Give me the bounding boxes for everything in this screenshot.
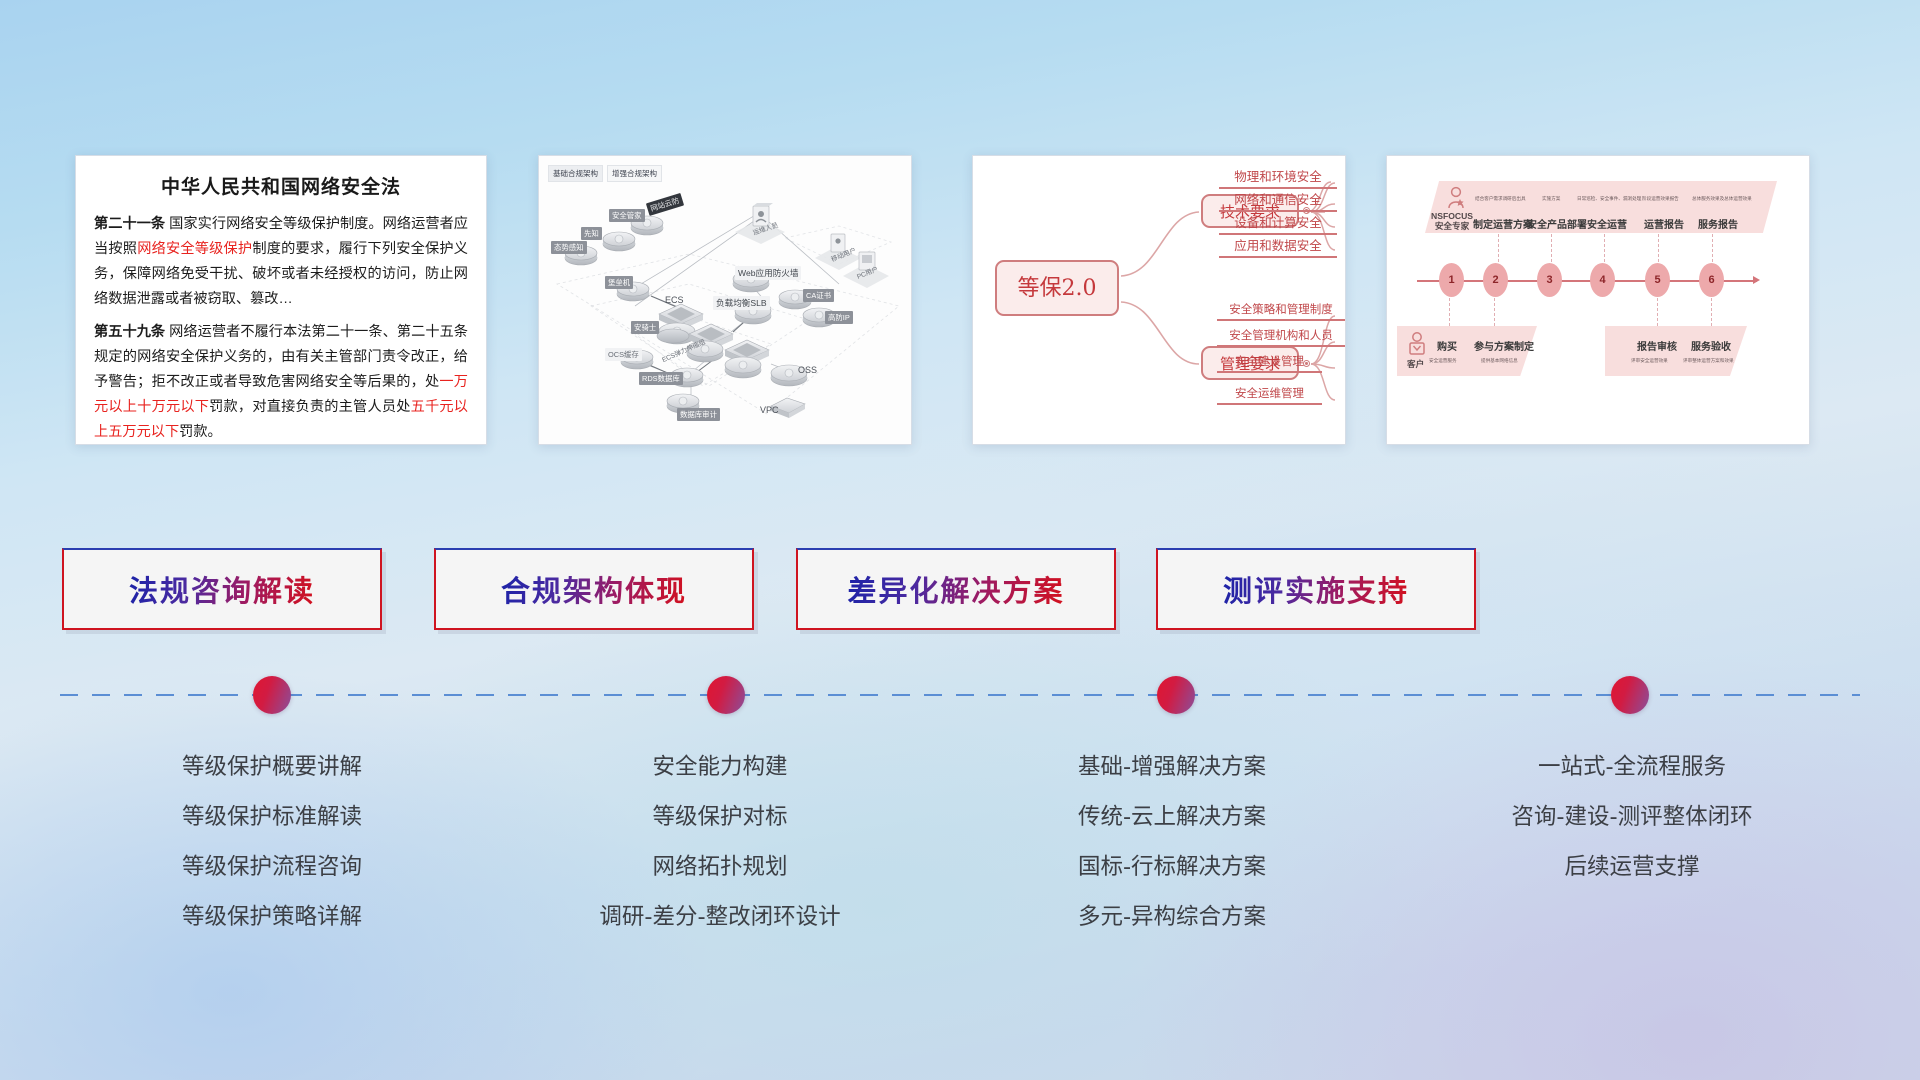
mindmap-leaf-app-data[interactable]: 应用和数据安全 xyxy=(1219,235,1337,258)
title-label-3: 差异化解决方案 xyxy=(847,568,1064,610)
mindmap-leaf-network-comm[interactable]: 网络和通信安全 xyxy=(1219,189,1337,212)
list-item: 等级保护标准解读 xyxy=(92,792,452,842)
roadmap-bottom-sub-2: 提供基本网络信息 xyxy=(1481,358,1518,364)
roadmap-bottom-sub-3: 评审安全运营效果 xyxy=(1631,358,1668,364)
roadmap-bottom-title-3[interactable]: 报告审核 xyxy=(1637,338,1677,353)
list-item: 传统-云上解决方案 xyxy=(992,792,1352,842)
node-label-waf: Web应用防火墙 xyxy=(735,266,801,280)
node-label-anti-ddos-ip: 高防IP xyxy=(825,311,853,324)
list-item: 等级保护流程咨询 xyxy=(92,842,452,892)
mindmap-canvas: 等保2.0 技术要求 管理要求 物理和环境安全 网络和通信安全 设备和计算安全 … xyxy=(973,156,1345,444)
mindmap-leaf-org-personnel[interactable]: 安全管理机构和人员 xyxy=(1217,327,1345,347)
node-label-database-audit: 数据库审计 xyxy=(677,408,720,421)
roadmap-dash-1-bottom xyxy=(1449,298,1450,326)
roadmap-bottom-sub-1: 安全运营服务 xyxy=(1429,358,1457,364)
roadmap-step-2[interactable]: 2 xyxy=(1483,263,1508,297)
roadmap-bottom-title-2[interactable]: 参与方案制定 xyxy=(1474,338,1534,353)
timeline-dot-1[interactable] xyxy=(253,676,291,714)
roadmap-provider-line1: NSFOCUS xyxy=(1431,211,1473,221)
mindmap-leaf-physical-env[interactable]: 物理和环境安全 xyxy=(1219,166,1337,189)
mindmap-leaf-policy-system[interactable]: 安全策略和管理制度 xyxy=(1217,301,1345,321)
title-box-assessment-support[interactable]: 测评实施支持 xyxy=(1156,548,1476,630)
card-law-text[interactable]: 中华人民共和国网络安全法 第二十一条 国家实行网络安全等级保护制度。网络运营者应… xyxy=(75,155,487,445)
list-item: 基础-增强解决方案 xyxy=(992,742,1352,792)
list-assessment-support: 一站式-全流程服务 咨询-建设-测评整体闭环 后续运营支撑 xyxy=(1432,742,1832,892)
list-item: 一站式-全流程服务 xyxy=(1432,742,1832,792)
list-item: 等级保护对标 xyxy=(540,792,900,842)
node-label-situational-awareness: 态势感知 xyxy=(551,241,587,254)
list-item: 安全能力构建 xyxy=(540,742,900,792)
list-item: 网络拓扑规划 xyxy=(540,842,900,892)
roadmap-top-sub-2: 实施方案 xyxy=(1542,196,1560,202)
roadmap-top-sub-5: 总体服务效果及总体运营效果 xyxy=(1692,196,1752,202)
roadmap-top-sub-4: 阶段运营效果报告 xyxy=(1642,196,1679,202)
mindmap-root-node[interactable]: 等保2.0 xyxy=(995,260,1119,316)
card-mindmap-dengbao[interactable]: 等保2.0 技术要求 管理要求 物理和环境安全 网络和通信安全 设备和计算安全 … xyxy=(972,155,1346,445)
title-box-regulation-consulting[interactable]: 法规咨询解读 xyxy=(62,548,382,630)
title-label-4: 测评实施支持 xyxy=(1223,568,1409,610)
roadmap-dash-2 xyxy=(1498,234,1499,262)
roadmap-top-title-2[interactable]: 安全产品部署 xyxy=(1527,216,1587,231)
law-article-label-2: 第五十九条 xyxy=(94,324,165,340)
security-expert-icon xyxy=(1445,186,1467,210)
roadmap-step-5[interactable]: 5 xyxy=(1645,263,1670,297)
roadmap-top-sub-1: 结合客户需求调研后出具 xyxy=(1475,196,1526,202)
roadmap-dash-3 xyxy=(1551,234,1552,262)
law-run-highlight: 网络安全等级保护 xyxy=(137,241,252,257)
mindmap-leaf-ops-mgmt[interactable]: 安全运维管理 xyxy=(1217,385,1322,405)
node-label-security-butler: 安全管家 xyxy=(609,209,645,222)
list-item: 等级保护策略详解 xyxy=(92,892,452,942)
roadmap-top-title-4[interactable]: 运营报告 xyxy=(1644,216,1684,231)
law-body: 中华人民共和国网络安全法 第二十一条 国家实行网络安全等级保护制度。网络运营者应… xyxy=(76,156,486,445)
list-differentiated-solution: 基础-增强解决方案 传统-云上解决方案 国标-行标解决方案 多元-异构综合方案 xyxy=(992,742,1352,942)
roadmap-top-title-3[interactable]: 安全运营 xyxy=(1587,216,1627,231)
node-label-vpc: VPC xyxy=(757,404,782,416)
roadmap-bottom-title-4[interactable]: 服务验收 xyxy=(1691,338,1731,353)
title-label-2: 合规架构体现 xyxy=(501,568,687,610)
list-item: 后续运营支撑 xyxy=(1432,842,1832,892)
title-box-compliance-architecture[interactable]: 合规架构体现 xyxy=(434,548,754,630)
roadmap-step-1[interactable]: 1 xyxy=(1439,263,1464,297)
node-label-xianzhi: 先知 xyxy=(581,227,602,240)
roadmap-provider-line2: 安全专家 xyxy=(1435,221,1469,231)
roadmap-top-title-5[interactable]: 服务报告 xyxy=(1698,216,1738,231)
roadmap-bottom-sub-4: 评审整体运营方案和效果 xyxy=(1683,358,1734,364)
node-label-slb: 负载均衡SLB xyxy=(713,296,770,310)
card-cloud-architecture[interactable]: 基础合规架构 增强合规架构 xyxy=(538,155,912,445)
law-run: 罚款，对直接负责的主管人员处 xyxy=(209,399,410,415)
list-item: 等级保护概要讲解 xyxy=(92,742,452,792)
roadmap-step-3[interactable]: 3 xyxy=(1537,263,1562,297)
timeline-dot-4[interactable] xyxy=(1611,676,1649,714)
roadmap-bottom-title-1[interactable]: 购买 xyxy=(1437,338,1457,353)
list-compliance-architecture: 安全能力构建 等级保护对标 网络拓扑规划 调研-差分-整改闭环设计 xyxy=(540,742,900,942)
list-item: 国标-行标解决方案 xyxy=(992,842,1352,892)
card-service-roadmap[interactable]: NSFOCUS 安全专家 客户 1 2 3 4 5 6 xyxy=(1386,155,1810,445)
law-article-label-1: 第二十一条 xyxy=(94,216,165,232)
roadmap-axis-arrow-icon xyxy=(1753,276,1760,284)
timeline-dashed-line xyxy=(60,694,1860,696)
roadmap-step-4[interactable]: 4 xyxy=(1590,263,1615,297)
roadmap-dash-6-bottom xyxy=(1711,298,1712,326)
list-item: 咨询-建设-测评整体闭环 xyxy=(1432,792,1832,842)
roadmap-customer-label: 客户 xyxy=(1407,360,1424,370)
mindmap-leaf-construction-mgmt[interactable]: 安全建设管理 xyxy=(1217,353,1322,373)
node-label-ecs: ECS xyxy=(662,294,687,306)
node-label-ocs-cache: OCS缓存 xyxy=(605,348,642,361)
roadmap-dash-5 xyxy=(1658,234,1659,262)
roadmap-step-6[interactable]: 6 xyxy=(1699,263,1724,297)
roadmap-canvas: NSFOCUS 安全专家 客户 1 2 3 4 5 6 xyxy=(1387,156,1809,444)
customer-icon xyxy=(1407,332,1427,358)
node-label-anqishi: 安骑士 xyxy=(631,321,659,334)
roadmap-dash-4 xyxy=(1604,234,1605,262)
law-title: 中华人民共和国网络安全法 xyxy=(94,172,468,199)
roadmap-dash-2-bottom xyxy=(1494,298,1495,326)
title-label-1: 法规咨询解读 xyxy=(129,568,315,610)
law-paragraph-1: 第二十一条 国家实行网络安全等级保护制度。网络运营者应当按照网络安全等级保护制度… xyxy=(94,212,468,312)
list-item: 多元-异构综合方案 xyxy=(992,892,1352,942)
law-run: 罚款。 xyxy=(179,424,222,440)
roadmap-dash-6 xyxy=(1712,234,1713,262)
roadmap-provider-label: NSFOCUS 安全专家 xyxy=(1431,212,1473,232)
timeline-dot-3[interactable] xyxy=(1157,676,1195,714)
list-item: 调研-差分-整改闭环设计 xyxy=(540,892,900,942)
roadmap-top-title-1[interactable]: 制定运营方案 xyxy=(1473,216,1533,231)
roadmap-dash-5-bottom xyxy=(1657,298,1658,326)
screenshot-cards-row: 中华人民共和国网络安全法 第二十一条 国家实行网络安全等级保护制度。网络运营者应… xyxy=(0,0,1920,460)
law-paragraph-2: 第五十九条 网络运营者不履行本法第二十一条、第二十五条规定的网络安全保护义务的，… xyxy=(94,320,468,445)
node-label-bastion-host: 堡垒机 xyxy=(605,276,633,289)
node-label-rds-database: RDS数据库 xyxy=(639,372,683,385)
architecture-canvas: 基础合规架构 增强合规架构 xyxy=(539,156,911,444)
title-box-differentiated-solution[interactable]: 差异化解决方案 xyxy=(796,548,1116,630)
node-label-ca-certificate: CA证书 xyxy=(803,289,834,302)
node-label-oss: OSS xyxy=(795,364,820,376)
mindmap-leaf-device-compute[interactable]: 设备和计算安全 xyxy=(1219,212,1337,235)
roadmap-top-sub-3: 日常巡检、安全事件、漏洞处理 xyxy=(1577,196,1641,202)
timeline-dot-2[interactable] xyxy=(707,676,745,714)
list-regulation-consulting: 等级保护概要讲解 等级保护标准解读 等级保护流程咨询 等级保护策略详解 xyxy=(92,742,452,942)
